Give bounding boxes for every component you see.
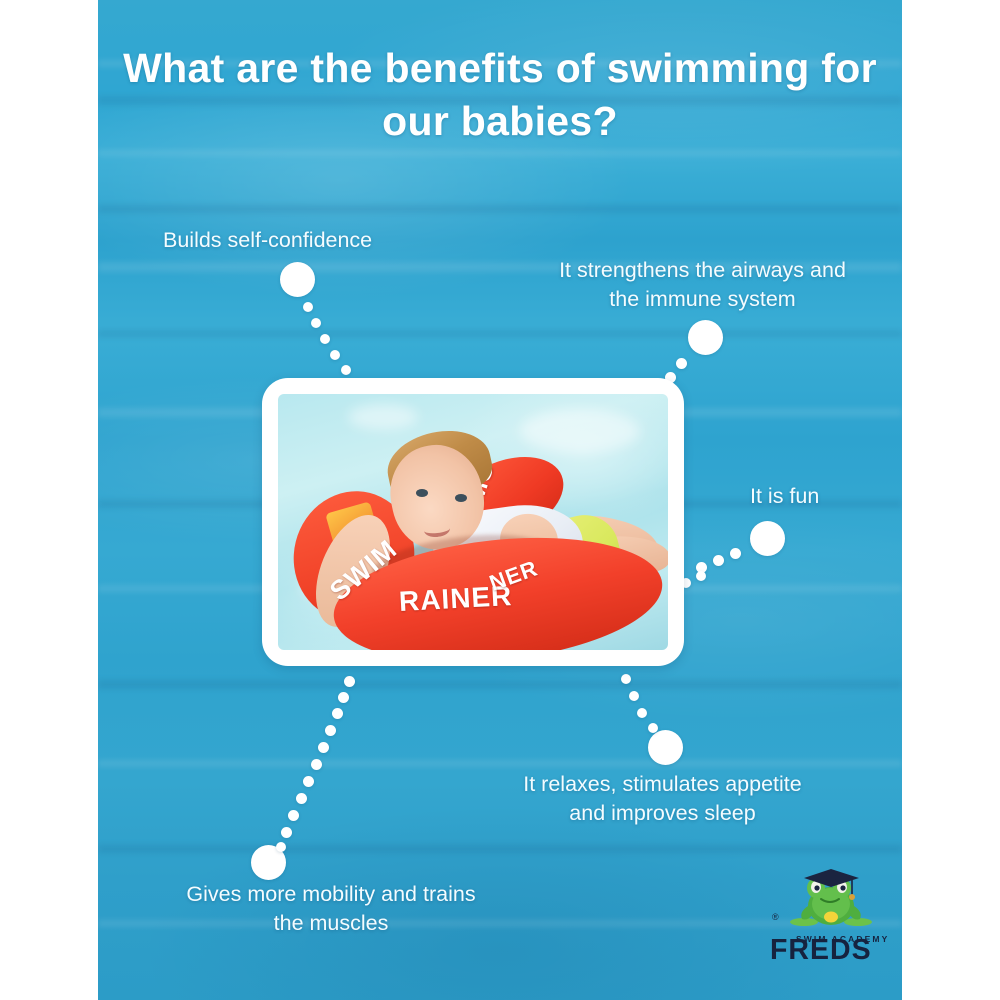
connector-dot [318, 742, 329, 753]
page-title: What are the benefits of swimming for ou… [98, 42, 902, 148]
connector-dot [648, 723, 658, 733]
photo-frame: MS SWIM RAINER NER [262, 378, 684, 666]
benefit-label-airways-immune: It strengthens the airways and the immun… [505, 256, 900, 314]
freds-swim-academy-logo: SWIM ACADEMY FREDS ® [770, 866, 890, 964]
registered-mark-icon: ® [772, 912, 779, 922]
baby-swimming-photo: MS SWIM RAINER NER [278, 394, 668, 650]
logo-wordmark: SWIM ACADEMY FREDS [770, 936, 890, 964]
connector-dot [303, 302, 313, 312]
connector-dot [341, 365, 351, 375]
connector-dot [676, 358, 687, 369]
connector-dot [320, 334, 330, 344]
infographic-poster: What are the benefits of swimming for ou… [0, 0, 1000, 1000]
connector-dot [296, 793, 307, 804]
connector-dot [713, 555, 724, 566]
benefit-dot-relax [648, 730, 683, 765]
benefit-dot-fun [750, 521, 785, 556]
benefit-dot-airways-immune [688, 320, 723, 355]
connector-dot [276, 842, 286, 852]
connector-dot [338, 692, 349, 703]
connector-dot [330, 350, 340, 360]
connector-dot [621, 674, 631, 684]
connector-dot [344, 676, 355, 687]
benefit-label-self-confidence: Builds self-confidence [163, 226, 493, 255]
connector-dot [281, 827, 292, 838]
connector-dot [288, 810, 299, 821]
benefit-label-mobility: Gives more mobility and trains the muscl… [125, 880, 537, 938]
connector-dot [637, 708, 647, 718]
connector-dot [730, 548, 741, 559]
connector-dot [629, 691, 639, 701]
frog-icon [790, 866, 872, 932]
connector-dot [311, 318, 321, 328]
logo-academy-text: SWIM ACADEMY [796, 934, 889, 944]
connector-dot [332, 708, 343, 719]
connector-dot [325, 725, 336, 736]
benefit-label-relax: It relaxes, stimulates appetite and impr… [470, 770, 855, 828]
connector-dot [696, 571, 706, 581]
baby-eye [416, 489, 428, 497]
benefit-dot-self-confidence [280, 262, 315, 297]
benefit-label-fun: It is fun [750, 482, 910, 511]
connector-dot [311, 759, 322, 770]
connector-dot [303, 776, 314, 787]
